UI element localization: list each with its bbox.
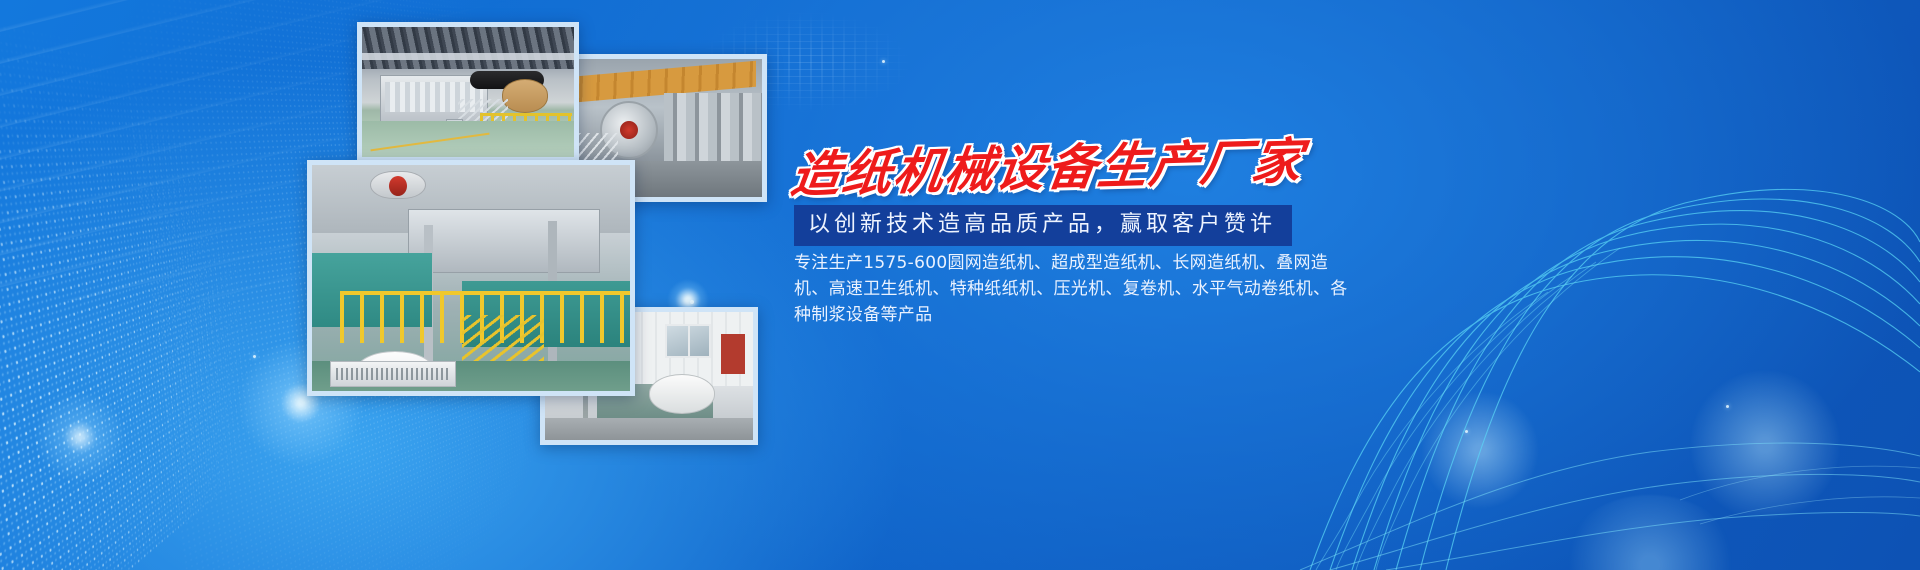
- banner-description: 专注生产1575-600圆网造纸机、超成型造纸机、长网造纸机、叠网造 机、高速卫…: [794, 250, 1284, 328]
- description-line: 机、高速卫生纸机、特种纸纸机、压光机、复卷机、水平气动卷纸机、各: [794, 276, 1284, 302]
- banner-headline: 造纸机械设备生产厂家: [787, 133, 1297, 209]
- banner-text-block: 造纸机械设备生产厂家 以创新技术造高品质产品，赢取客户赞许 专注生产1575-6…: [786, 0, 1346, 570]
- banner-tagline: 以创新技术造高品质产品，赢取客户赞许: [808, 212, 1276, 238]
- description-line: 种制浆设备等产品: [794, 302, 1284, 328]
- promo-banner: 造纸机械设备生产厂家 以创新技术造高品质产品，赢取客户赞许 专注生产1575-6…: [0, 0, 1920, 570]
- banner-tagline-band: 以创新技术造高品质产品，赢取客户赞许: [794, 205, 1292, 246]
- description-line: 专注生产1575-600圆网造纸机、超成型造纸机、长网造纸机、叠网造: [794, 250, 1284, 276]
- photo-paper-machine-hall: [357, 22, 579, 162]
- photo-large-paper-machine-line: [307, 160, 635, 396]
